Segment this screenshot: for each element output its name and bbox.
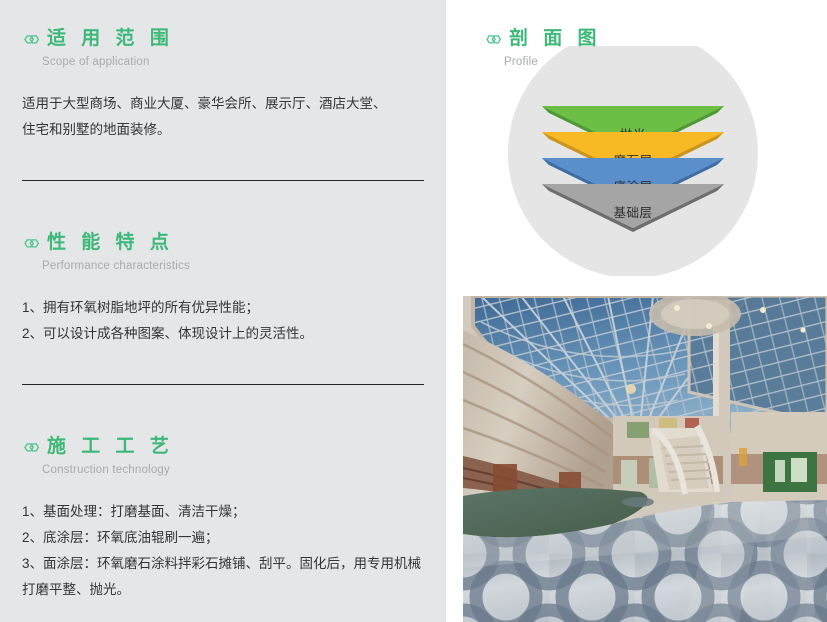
hexagon-pair-icon [22,439,41,456]
section-header: 性 能 特 点 Performance characteristics [0,232,446,273]
hexagon-pair-icon [22,31,41,48]
section-title: 施 工 工 艺 [47,436,174,458]
body-line: 1、拥有环氧树脂地坪的所有优异性能； [22,295,424,321]
right-media-panel: 剖 面 图 Profile 抛光 磨石层 [446,0,827,622]
section-body: 1、拥有环氧树脂地坪的所有优异性能； 2、可以设计成各种图案、体现设计上的灵活性… [0,295,446,347]
body-line: 2、底涂层：环氧底油辊刷一遍； [22,525,424,551]
layer-stack: 抛光 磨石层 底涂层 [542,106,724,246]
body-line: 2、可以设计成各种图案、体现设计上的灵活性。 [22,321,424,347]
layer-chevron-base [542,184,724,244]
section-title: 适 用 范 围 [47,28,174,50]
section-divider [22,180,424,181]
section-title: 剖 面 图 [509,28,602,50]
section-divider [22,384,424,385]
section-performance-characteristics: 性 能 特 点 Performance characteristics 1、拥有… [0,232,446,347]
section-header: 施 工 工 艺 Construction technology [0,436,446,477]
section-subtitle: Construction technology [22,463,446,477]
section-profile-header: 剖 面 图 Profile [484,28,602,69]
section-title: 性 能 特 点 [47,232,174,254]
section-subtitle: Profile [484,55,602,69]
section-header: 适 用 范 围 Scope of application [0,28,446,69]
section-subtitle: Performance characteristics [22,259,446,273]
body-line: 适用于大型商场、商业大厦、豪华会所、展示厅、酒店大堂、 [22,91,424,117]
section-subtitle: Scope of application [22,55,446,69]
hexagon-pair-icon [22,235,41,252]
section-body: 1、基面处理：打磨基面、清洁干燥； 2、底涂层：环氧底油辊刷一遍； 3、面涂层：… [0,499,446,603]
body-line: 3、面涂层：环氧磨石涂料拌彩石摊铺、刮平。固化后，用专用机械打磨平整、抛光。 [22,551,424,603]
hexagon-pair-icon [484,31,503,48]
section-scope-of-application: 适 用 范 围 Scope of application 适用于大型商场、商业大… [0,28,446,143]
atrium-interior-photo [463,296,827,622]
body-line: 住宅和别墅的地面装修。 [22,117,424,143]
section-construction-technology: 施 工 工 艺 Construction technology 1、基面处理：打… [0,436,446,603]
section-body: 适用于大型商场、商业大厦、豪华会所、展示厅、酒店大堂、 住宅和别墅的地面装修。 [0,91,446,143]
body-line: 1、基面处理：打磨基面、清洁干燥； [22,499,424,525]
left-content-panel: 适 用 范 围 Scope of application 适用于大型商场、商业大… [0,0,446,622]
profile-diagram: 抛光 磨石层 底涂层 [464,46,804,276]
